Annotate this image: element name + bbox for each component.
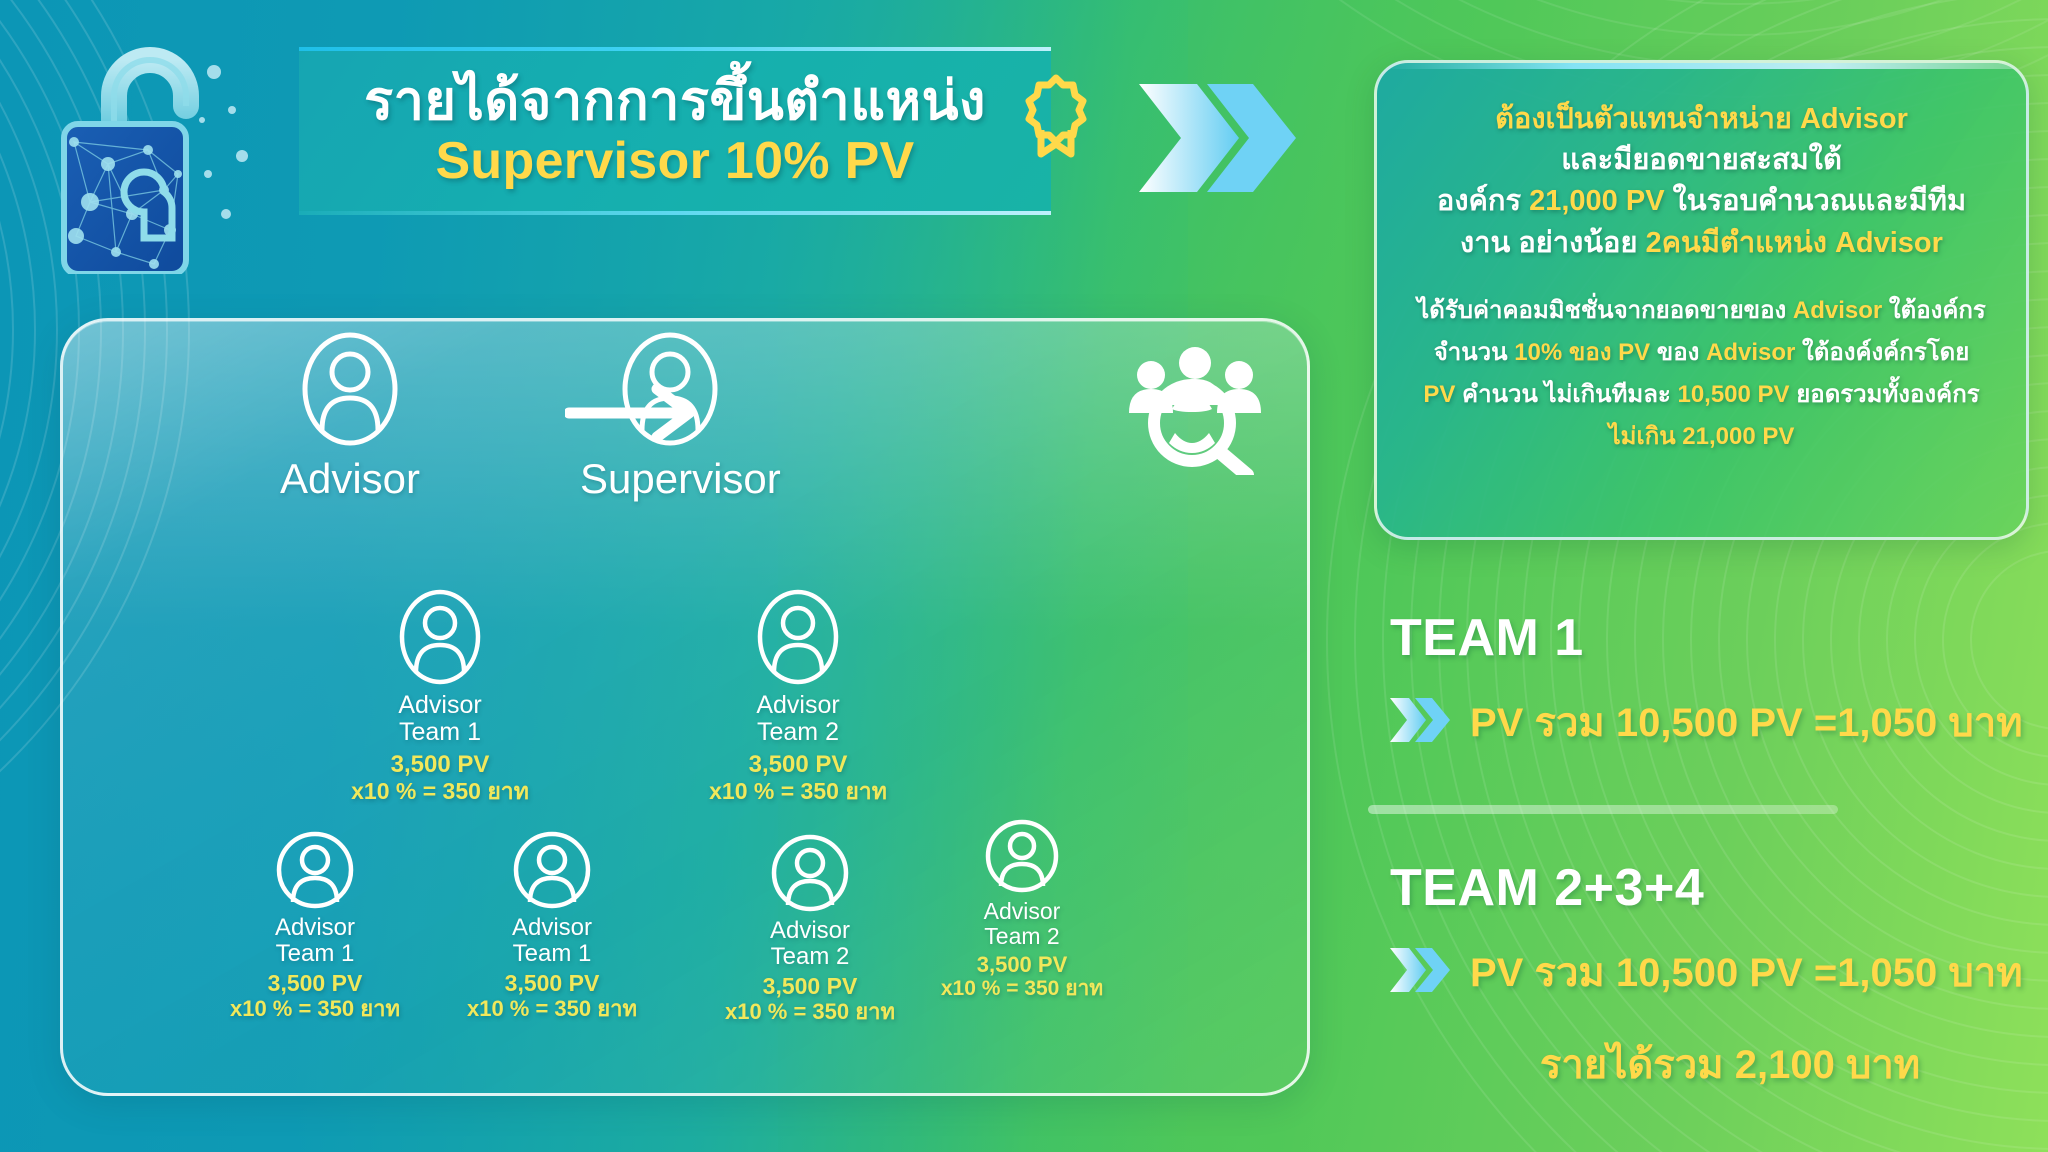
node-calc: x10 % = 350 ยาท [720,1000,900,1025]
team-2-row: PV รวม 10,500 PV =1,050 บาท [1390,940,2030,1004]
requirements-line-1: ต้องเป็นตัวแทนจำหน่าย Advisor [1405,99,1998,140]
double-chevron-right-icon [1135,78,1300,198]
team-1-block: TEAM 1 PV รวม 10,500 PV =1,050 บาท [1390,608,2030,754]
avatar [932,818,1112,894]
requirements-line-4: งาน อย่างน้อย 2คนมีตำแหน่ง Advisor [1405,223,1998,264]
team-2-block: TEAM 2+3+4 PV รวม 10,500 PV =1,050 บาท ร… [1390,858,2030,1096]
node-calc: x10 % = 350 ยาท [350,779,530,805]
page-title-thai: รายได้จากการขึ้นตำแหน่ง [364,72,986,131]
avatar [350,588,530,686]
open-padlock-network-icon [36,24,266,274]
node-pv: 3,500 PV [708,752,888,779]
info-box-highlight [1380,63,2023,69]
node-pv: 3,500 PV [932,953,1112,978]
award-rosette-icon [1019,72,1093,158]
avatar [580,330,760,448]
node-pv: 3,500 PV [720,974,900,1000]
team-divider [1368,805,1838,814]
node-calc: x10 % = 350 ยาท [708,779,888,805]
team-1-row: PV รวม 10,500 PV =1,050 บาท [1390,690,2030,754]
commission-line-4: ไม่เกิน 21,000 PV [1405,416,1998,458]
commission-line-3: PV คำนวน ไม่เกินทีมละ 10,500 PV ยอดรวมทั… [1405,374,1998,416]
avatar [708,588,888,686]
node-supervisor: Supervisor [580,330,760,501]
node-label-line2: Team 1 [462,941,642,967]
node-pv: 3,500 PV [350,752,530,779]
double-chevron-right-icon [1390,695,1452,750]
node-advisor-root: Advisor [260,330,440,501]
requirements-line-2: และมียอดขายสะสมใต้ [1405,140,1998,181]
node-calc: x10 % = 350 ยาท [462,997,642,1022]
node-advisor-team1-b: Advisor Team 1 3,500 PV x10 % = 350 ยาท [462,830,642,1021]
node-label-line2: Team 1 [350,719,530,746]
node-label-line2: Team 2 [720,944,900,970]
avatar [720,833,900,913]
node-label-line1: Advisor [350,692,530,719]
node-label-line1: Advisor [462,915,642,941]
node-advisor-team2-mid: Advisor Team 2 3,500 PV x10 % = 350 ยาท [708,588,888,805]
requirements-line-3: องค์กร 21,000 PV ในรอบคำนวณและมีทีม [1405,181,1998,222]
title-banner: รายได้จากการขึ้นตำแหน่ง Supervisor 10% P… [299,47,1051,215]
team-2-value: PV รวม 10,500 PV =1,050 บาท [1470,940,2023,1004]
node-label-line1: Advisor [932,899,1112,924]
node-advisor-team2-a: Advisor Team 2 3,500 PV x10 % = 350 ยาท [720,833,900,1024]
node-label-line1: Advisor [225,915,405,941]
commission-description: ได้รับค่าคอมมิชชั่นจากยอดขายของ Advisor … [1405,290,1998,458]
team-1-value: PV รวม 10,500 PV =1,050 บาท [1470,690,2023,754]
node-calc: x10 % = 350 ยาท [225,997,405,1022]
avatar [462,830,642,910]
double-chevron-right-icon [1390,945,1452,1000]
requirements-heading: ต้องเป็นตัวแทนจำหน่าย Advisor และมียอดขา… [1405,99,1998,264]
team-grand-total: รายได้รวม 2,100 บาท [1390,1032,2030,1096]
node-pv: 3,500 PV [462,971,642,997]
node-pv: 3,500 PV [225,971,405,997]
node-label-line2: Team 2 [932,924,1112,949]
group-magnifier-icon [1125,345,1265,475]
commission-line-1: ได้รับค่าคอมมิชชั่นจากยอดขายของ Advisor … [1405,290,1998,332]
node-label-line2: Team 2 [708,719,888,746]
node-advisor-team1-a: Advisor Team 1 3,500 PV x10 % = 350 ยาท [225,830,405,1021]
commission-line-2: จำนวน 10% ของ PV ของ Advisor ใต้องค์งค์ก… [1405,332,1998,374]
requirements-info-box: ต้องเป็นตัวแทนจำหน่าย Advisor และมียอดขา… [1374,60,2029,540]
node-advisor-team2-b: Advisor Team 2 3,500 PV x10 % = 350 ยาท [932,818,1112,1001]
node-calc: x10 % = 350 ยาท [932,977,1112,1001]
avatar [260,330,440,448]
avatar [225,830,405,910]
team-1-title: TEAM 1 [1390,608,2030,668]
node-label: Supervisor [580,456,760,501]
node-advisor-team1-mid: Advisor Team 1 3,500 PV x10 % = 350 ยาท [350,588,530,805]
page-title-en: Supervisor 10% PV [435,133,914,190]
node-label-line2: Team 1 [225,941,405,967]
node-label: Advisor [260,456,440,501]
team-2-title: TEAM 2+3+4 [1390,858,2030,918]
node-label-line1: Advisor [720,918,900,944]
node-label-line1: Advisor [708,692,888,719]
